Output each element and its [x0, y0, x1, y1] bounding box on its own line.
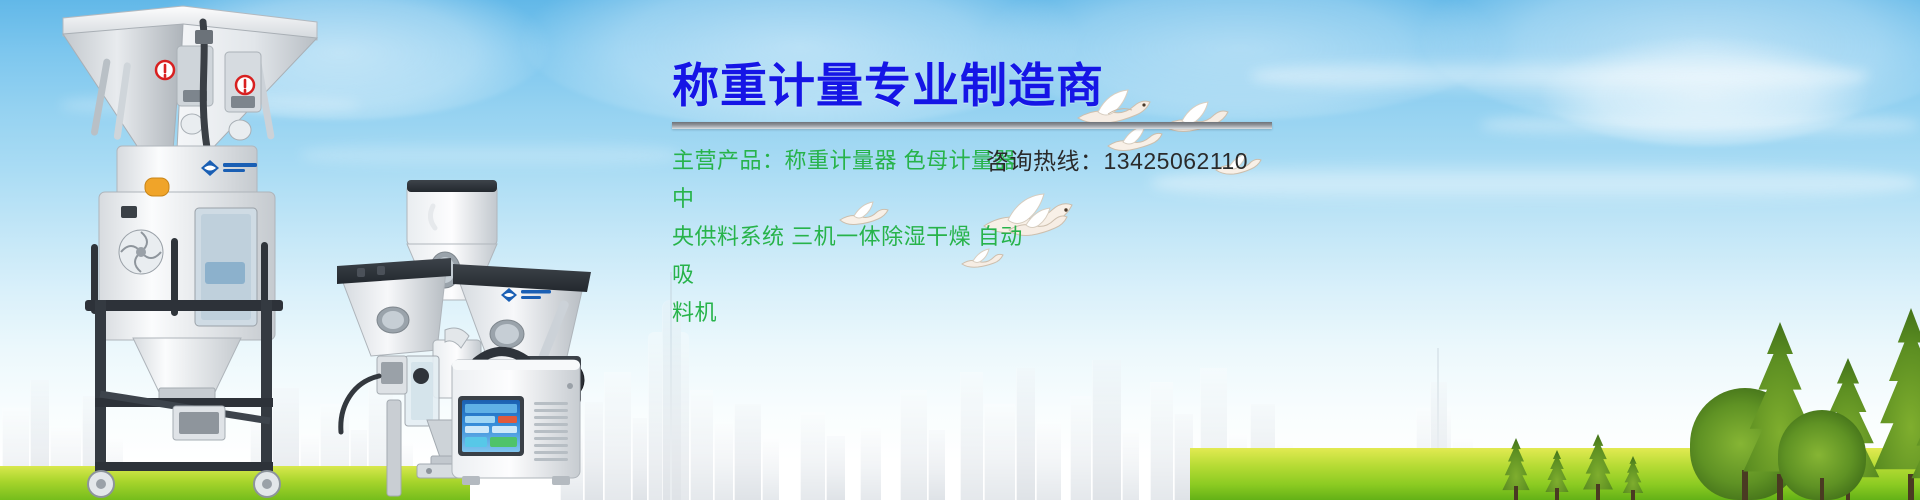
tree — [1618, 450, 1648, 500]
machine-control-panel — [448, 338, 598, 500]
control-panel-illustration — [448, 338, 598, 500]
subtitle-line-1: 主营产品：称重计量器 色母计量器 中 — [672, 142, 1032, 218]
banner-text-block: 称重计量专业制造商 主营产品：称重计量器 色母计量器 中 央供料系统 三机一体除… — [672, 62, 1312, 332]
cloud-wisp — [1480, 110, 1920, 140]
cloud — [1420, 0, 1920, 130]
cloud-wisp — [1250, 56, 1870, 96]
tree — [1576, 422, 1620, 500]
subtitle-line-3: 料机 — [672, 294, 1032, 332]
hotline-label: 咨询热线： — [986, 148, 1104, 174]
tree — [1898, 350, 1920, 500]
hotline-number: 13425062110 — [1104, 148, 1249, 174]
hotline-text: 咨询热线：13425062110 — [986, 142, 1248, 180]
cloud — [1540, 36, 1870, 146]
promo-banner: 称重计量专业制造商 主营产品：称重计量器 色母计量器 中 央供料系统 三机一体除… — [0, 0, 1920, 500]
banner-headline: 称重计量专业制造商 — [672, 62, 1312, 109]
gravimetric-blender-illustration — [55, 0, 325, 500]
machine-gravimetric-blender — [55, 0, 325, 500]
subtitle-wrapper: 主营产品：称重计量器 色母计量器 中 央供料系统 三机一体除湿干燥 自动吸 料机… — [672, 142, 1312, 332]
banner-subtitle: 主营产品：称重计量器 色母计量器 中 央供料系统 三机一体除湿干燥 自动吸 料机 — [672, 142, 1032, 332]
subtitle-line-2: 央供料系统 三机一体除湿干燥 自动吸 — [672, 218, 1032, 294]
tree — [1778, 396, 1866, 500]
headline-divider — [672, 122, 1272, 129]
tree — [1496, 428, 1536, 500]
tree — [1540, 442, 1574, 500]
